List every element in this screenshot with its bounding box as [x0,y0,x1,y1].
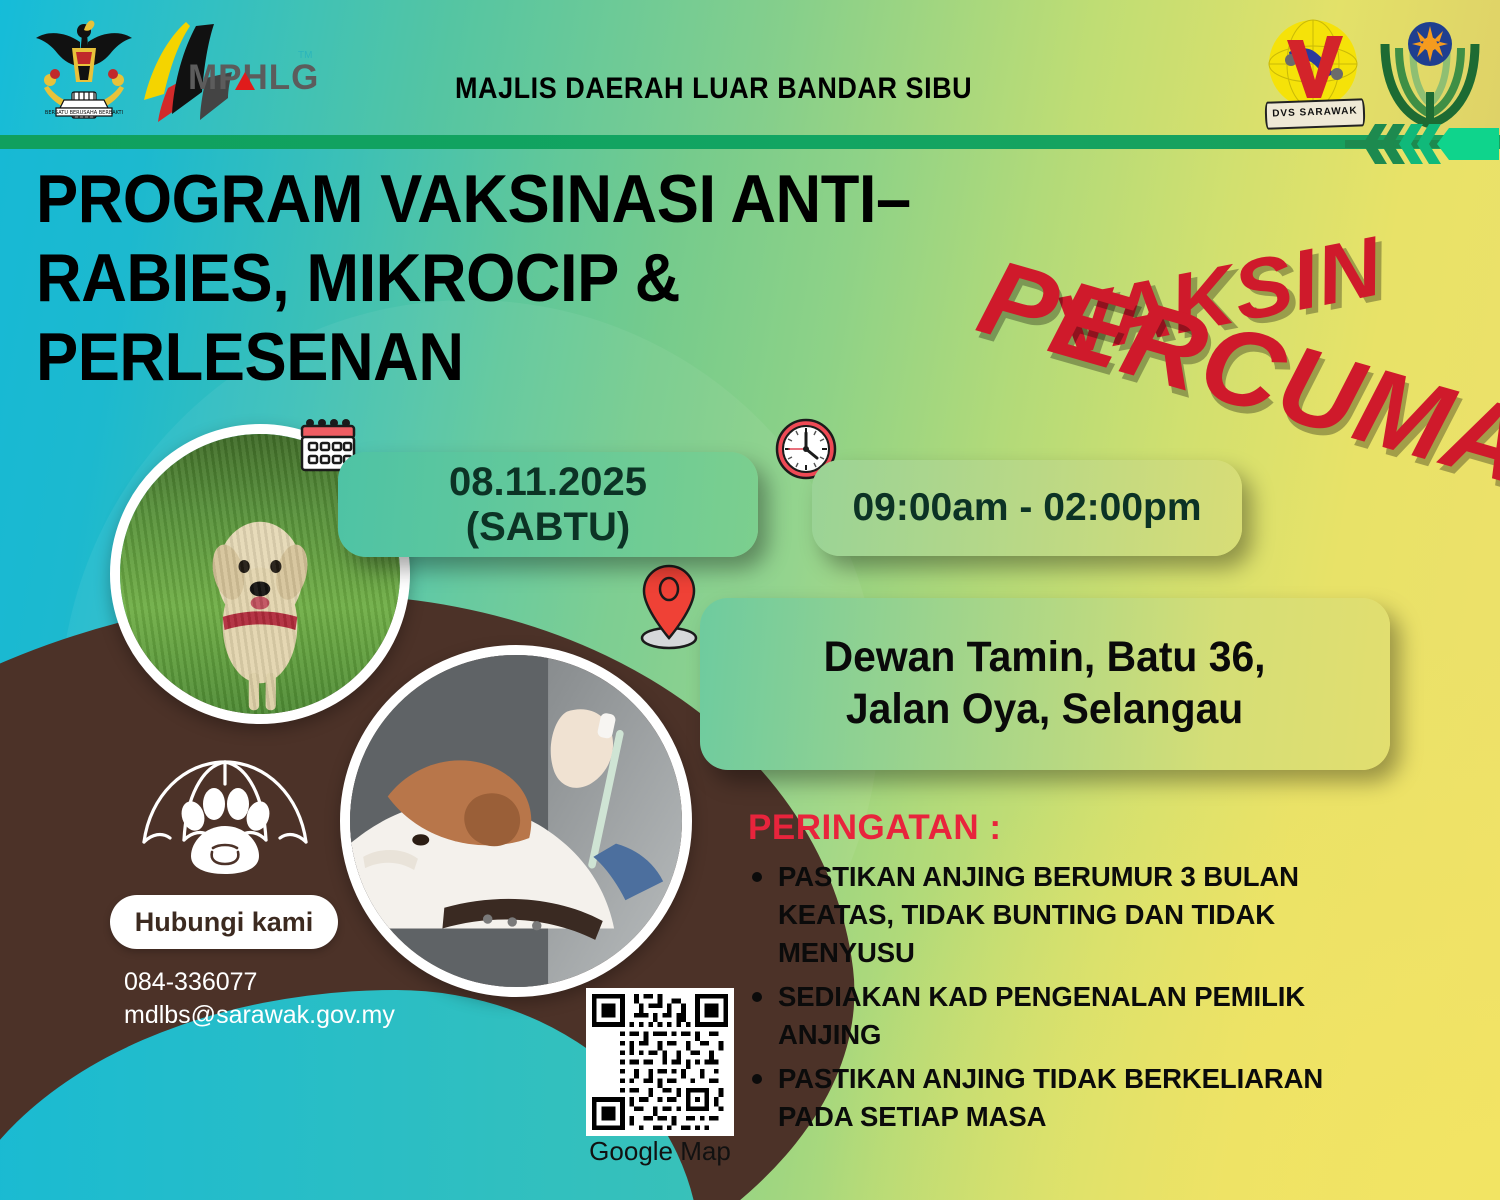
event-date-card: 08.11.2025 (SABTU) [338,452,758,557]
wheat-chevron-decoration [1345,120,1500,168]
qr-code-label: Google Map [584,1136,736,1167]
mphlg-trademark-icon: TM [298,50,312,61]
event-location-line2: Jalan Oya, Selangau [824,684,1266,736]
free-vaccine-badge: VAKSIN PERCUMA! [960,232,1480,482]
header-green-divider [0,135,1500,149]
contact-button-label: Hubungi kami [135,907,314,938]
notice-list: PASTIKAN ANJING BERUMUR 3 BULAN KEATAS, … [740,858,1398,1142]
event-date-line2: (SABTU) [449,505,647,550]
map-pin-icon [633,562,705,652]
page-title: MAJLIS DAERAH LUAR BANDAR SIBU [455,72,972,106]
paw-umbrella-icon [130,756,320,886]
google-map-qr-code[interactable] [586,988,734,1136]
event-time-text: 09:00am - 02:00pm [852,486,1201,530]
event-location-card: Dewan Tamin, Batu 36, Jalan Oya, Selanga… [700,598,1390,770]
contact-details: 084-336077 mdlbs@sarawak.gov.my [124,966,395,1032]
dvs-sarawak-logo: DVS SARAWAK [1253,12,1373,132]
poster-root: BERSATU BERUSAHA BERBAKTI MPHLG TM MAJLI… [0,0,1500,1200]
notice-title: PERINGATAN : [748,808,1002,848]
event-location-text: Dewan Tamin, Batu 36, Jalan Oya, Selanga… [824,632,1266,735]
free-vaccine-line1: VAKSIN [1047,217,1389,375]
vaccination-photo [340,645,692,997]
event-date-text: 08.11.2025 (SABTU) [449,460,647,550]
notice-item: SEDIAKAN KAD PENGENALAN PEMILIK ANJING [778,978,1398,1054]
mphlg-red-arrow-icon [233,70,257,92]
svg-text:BERSATU BERUSAHA BERBAKTI: BERSATU BERUSAHA BERBAKTI [45,110,123,116]
notice-item: PASTIKAN ANJING TIDAK BERKELIARAN PADA S… [778,1060,1398,1136]
contact-phone[interactable]: 084-336077 [124,966,395,999]
event-location-line1: Dewan Tamin, Batu 36, [824,632,1266,684]
federal-government-logo [1375,14,1485,132]
contact-email[interactable]: mdlbs@sarawak.gov.my [124,999,395,1032]
mphlg-logo: MPHLG TM [140,18,315,130]
sarawak-crest-icon: BERSATU BERUSAHA BERBAKTI [28,8,140,130]
notice-item: PASTIKAN ANJING BERUMUR 3 BULAN KEATAS, … [778,858,1398,972]
event-date-line1: 08.11.2025 [449,460,647,505]
event-time-card: 09:00am - 02:00pm [812,460,1242,556]
main-headline: PROGRAM VAKSINASI ANTI–RABIES, MIKROCIP … [36,160,975,397]
contact-button[interactable]: Hubungi kami [110,895,338,949]
